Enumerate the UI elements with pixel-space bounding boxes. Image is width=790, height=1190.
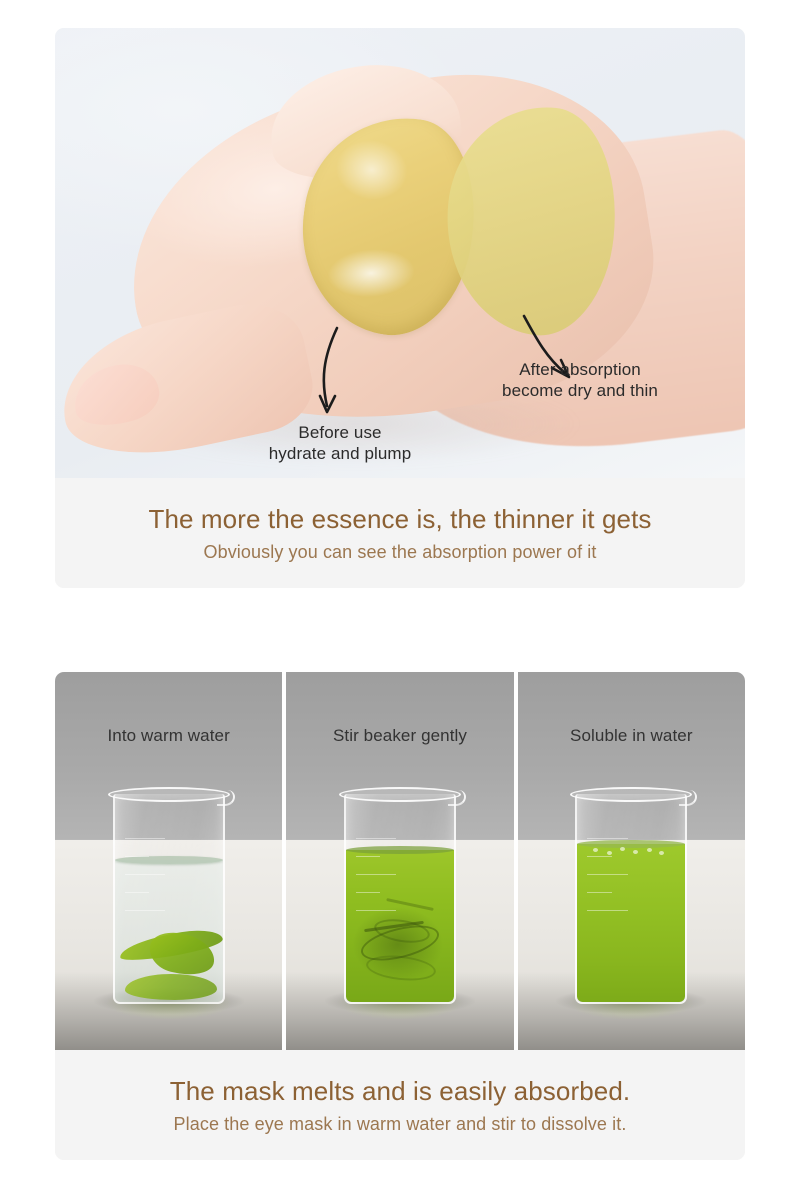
beaker-dissolved [575, 794, 687, 1004]
absorption-card: Before use hydrate and plump After absor… [55, 28, 745, 588]
beaker-rim [570, 787, 692, 802]
product-detail-page: Before use hydrate and plump After absor… [0, 0, 790, 1190]
beaker-glass [575, 794, 687, 1004]
graduation-marks [587, 838, 659, 948]
panel-soluble-in-water: Soluble in water [518, 672, 745, 1050]
solubility-caption-subtitle: Place the eye mask in warm water and sti… [174, 1114, 627, 1135]
beaker-panel-row: Into warm water [55, 672, 745, 1050]
panel-into-warm-water: Into warm water [55, 672, 282, 1050]
beaker-spout [679, 790, 697, 806]
solubility-caption-title: The mask melts and is easily absorbed. [170, 1076, 630, 1107]
dissolving-swirl [365, 952, 437, 983]
solubility-caption: The mask melts and is easily absorbed. P… [55, 1050, 745, 1160]
hand-patch-photo: Before use hydrate and plump After absor… [55, 28, 745, 478]
graduation-marks [356, 838, 428, 948]
curved-arrow-down-left-icon [324, 328, 337, 406]
absorption-caption: The more the essence is, the thinner it … [55, 478, 745, 588]
beaker-glass [113, 794, 225, 1004]
mask-sheet-piece [125, 974, 217, 1000]
solubility-card: Into warm water [55, 672, 745, 1160]
beaker-glass [344, 794, 456, 1004]
panel-stir-beaker: Stir beaker gently [286, 672, 513, 1050]
beaker-clear-water [113, 794, 225, 1004]
annotation-after-absorption: After absorption become dry and thin [455, 360, 705, 401]
absorption-caption-title: The more the essence is, the thinner it … [149, 504, 652, 535]
absorption-caption-subtitle: Obviously you can see the absorption pow… [203, 542, 596, 563]
annotation-before-use: Before use hydrate and plump [230, 423, 450, 464]
beaker-spout [448, 790, 466, 806]
beaker-spout [217, 790, 235, 806]
graduation-marks [125, 838, 197, 948]
panel-label-soluble-in-water: Soluble in water [518, 726, 745, 746]
beaker-rim [108, 787, 230, 802]
panel-label-into-warm-water: Into warm water [55, 726, 282, 746]
annotation-arrows [55, 28, 745, 478]
beaker-rim [339, 787, 461, 802]
beaker-mixing [344, 794, 456, 1004]
panel-label-stir-beaker: Stir beaker gently [286, 726, 513, 746]
